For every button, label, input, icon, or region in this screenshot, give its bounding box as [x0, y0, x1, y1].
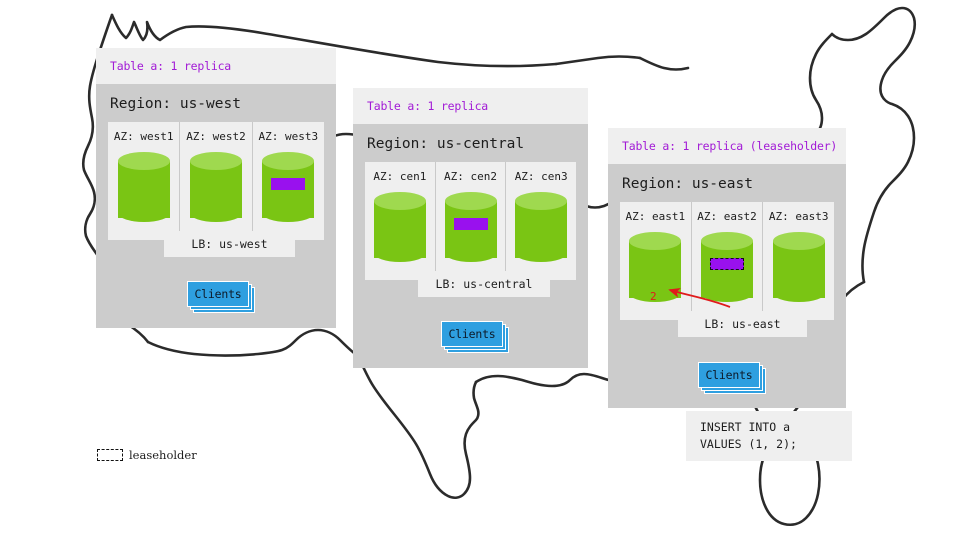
az-label-cen3: AZ: cen3: [515, 170, 568, 183]
region-title-us-west: Region: us-west: [96, 84, 336, 122]
clients-stack-us-central[interactable]: Clients: [441, 321, 503, 347]
diagram-canvas: Table a: 1 replica Region: us-west AZ: w…: [0, 0, 960, 540]
cylinder-top: [118, 152, 170, 170]
az-label-west2: AZ: west2: [186, 130, 246, 143]
dashed-box-icon: [97, 449, 123, 461]
clients-button-us-west[interactable]: Clients: [187, 281, 249, 307]
region-title-us-east: Region: us-east: [608, 164, 846, 202]
load-balancer-us-west[interactable]: LB: us-west: [164, 231, 295, 257]
node-cylinder-cen2[interactable]: [445, 192, 497, 266]
replica-summary-label: Table a: 1 replica: [110, 59, 231, 73]
legend-label: leaseholder: [129, 448, 197, 462]
az-row-us-west: AZ: west1 AZ: west2 AZ: west3: [108, 122, 324, 240]
node-cylinder-cen1[interactable]: [374, 192, 426, 266]
az-cell-east3[interactable]: AZ: east3: [763, 202, 834, 320]
node-cylinder-west1[interactable]: [118, 152, 170, 226]
replica-marker-cen2: [454, 218, 488, 230]
cylinder-top: [445, 192, 497, 210]
az-label-cen2: AZ: cen2: [444, 170, 497, 183]
az-cell-west3[interactable]: AZ: west3: [253, 122, 324, 240]
region-header-us-west: Table a: 1 replica: [96, 48, 336, 84]
cylinder-top: [701, 232, 753, 250]
az-label-cen1: AZ: cen1: [373, 170, 426, 183]
az-label-west1: AZ: west1: [114, 130, 174, 143]
replica-marker-west3: [271, 178, 305, 190]
az-label-east1: AZ: east1: [626, 210, 686, 223]
cylinder-top: [773, 232, 825, 250]
node-cylinder-east2[interactable]: [701, 232, 753, 306]
az-cell-west1[interactable]: AZ: west1: [108, 122, 180, 240]
sql-statement-box: INSERT INTO a VALUES (1, 2);: [686, 411, 852, 461]
arrow-step-number: 2: [650, 290, 657, 303]
replica-summary-label: Table a: 1 replica (leaseholder): [622, 139, 837, 153]
az-label-west3: AZ: west3: [259, 130, 319, 143]
node-cylinder-cen3[interactable]: [515, 192, 567, 266]
clients-stack-us-east[interactable]: Clients: [698, 362, 760, 388]
load-balancer-us-east[interactable]: LB: us-east: [678, 311, 807, 337]
cylinder-top: [374, 192, 426, 210]
clients-button-us-east[interactable]: Clients: [698, 362, 760, 388]
load-balancer-us-central[interactable]: LB: us-central: [418, 271, 550, 297]
az-cell-east2[interactable]: AZ: east2: [692, 202, 764, 320]
region-header-us-central: Table a: 1 replica: [353, 88, 588, 124]
az-label-east3: AZ: east3: [769, 210, 829, 223]
az-cell-cen3[interactable]: AZ: cen3: [506, 162, 576, 280]
node-cylinder-east3[interactable]: [773, 232, 825, 306]
az-row-us-central: AZ: cen1 AZ: cen2 AZ: cen3: [365, 162, 576, 280]
region-header-us-east: Table a: 1 replica (leaseholder): [608, 128, 846, 164]
region-title-us-central: Region: us-central: [353, 124, 588, 162]
cylinder-top: [190, 152, 242, 170]
replica-summary-label: Table a: 1 replica: [367, 99, 488, 113]
cylinder-top: [629, 232, 681, 250]
clients-stack-us-west[interactable]: Clients: [187, 281, 249, 307]
clients-button-us-central[interactable]: Clients: [441, 321, 503, 347]
az-cell-cen2[interactable]: AZ: cen2: [436, 162, 507, 280]
az-cell-cen1[interactable]: AZ: cen1: [365, 162, 436, 280]
az-label-east2: AZ: east2: [697, 210, 757, 223]
legend: leaseholder: [97, 448, 197, 462]
node-cylinder-west3[interactable]: [262, 152, 314, 226]
az-cell-west2[interactable]: AZ: west2: [180, 122, 252, 240]
node-cylinder-west2[interactable]: [190, 152, 242, 226]
cylinder-top: [515, 192, 567, 210]
leaseholder-marker-east2: [710, 258, 744, 270]
cylinder-top: [262, 152, 314, 170]
